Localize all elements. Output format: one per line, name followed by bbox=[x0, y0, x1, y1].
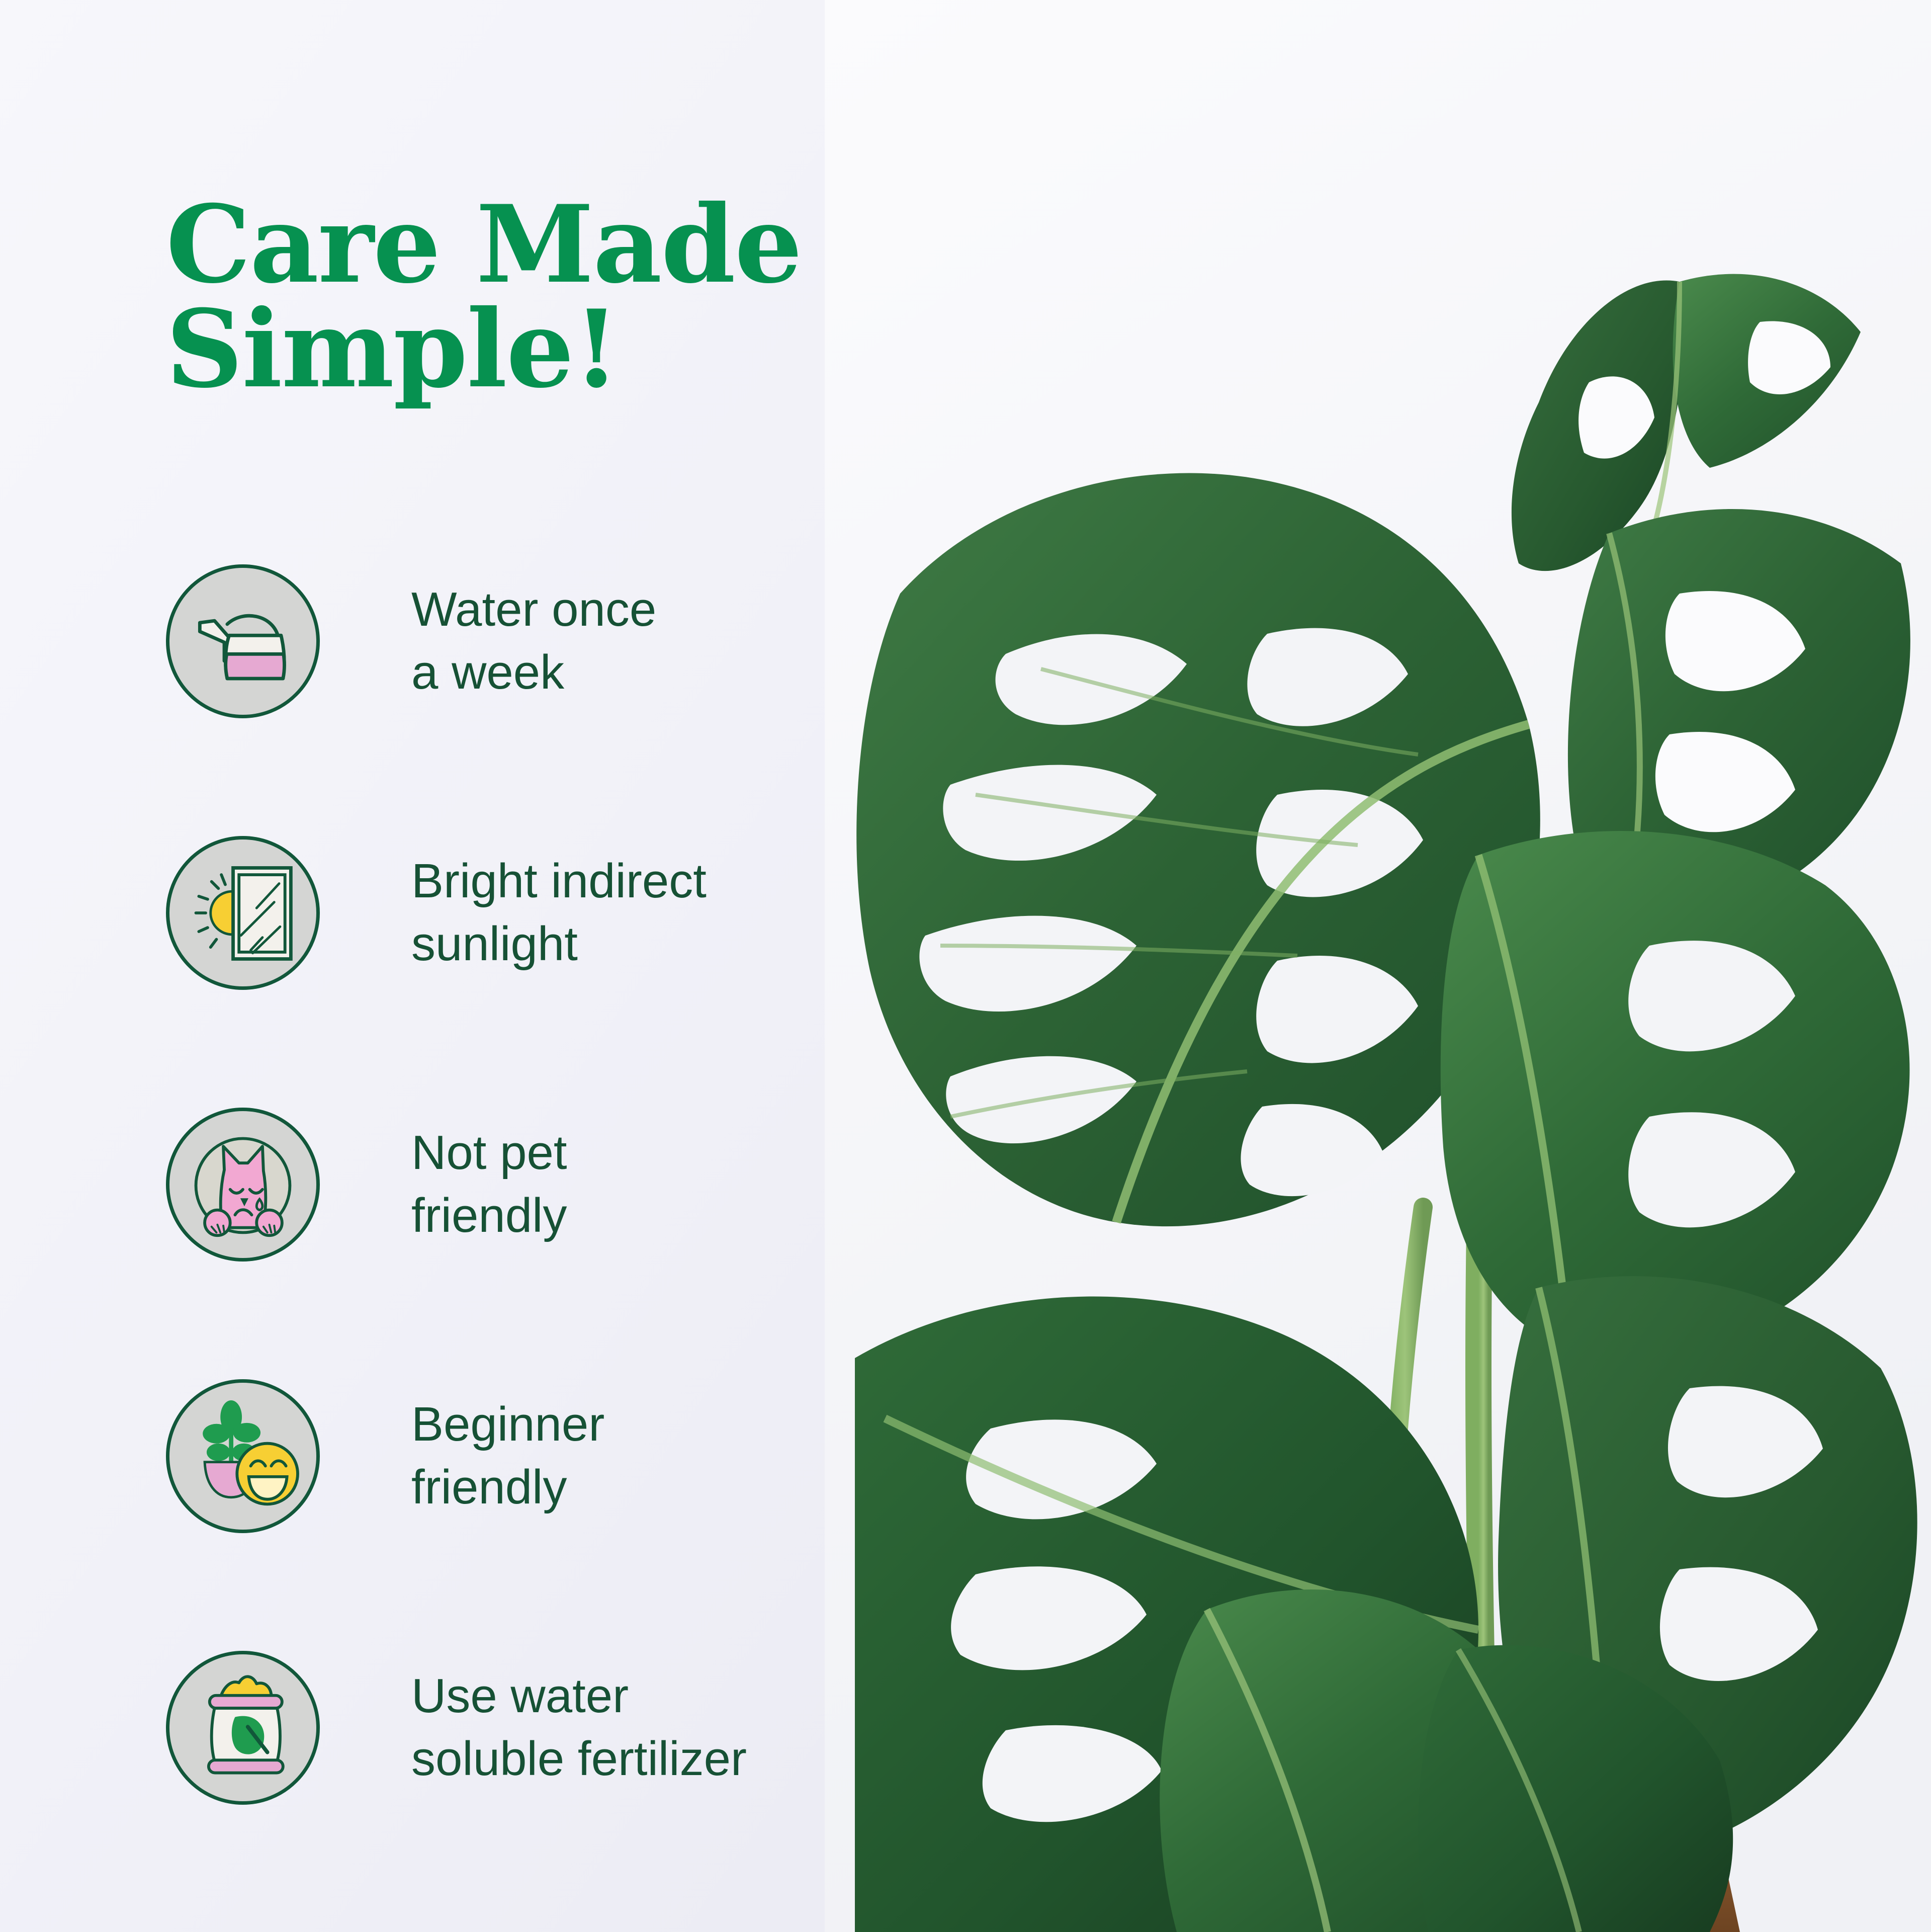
care-item-beginner: Beginner friendly bbox=[166, 1378, 880, 1534]
sad-cat-icon bbox=[166, 1108, 320, 1262]
page-title: Care Made Simple! bbox=[166, 192, 820, 401]
care-item-label: Beginner friendly bbox=[411, 1393, 604, 1519]
fertilizer-sack-icon bbox=[166, 1651, 320, 1805]
care-item-light: Bright indirect sunlight bbox=[166, 835, 880, 991]
care-item-label: Water once a week bbox=[411, 578, 656, 704]
care-item-label: Use water soluble fertilizer bbox=[411, 1665, 747, 1791]
care-list: Water once a week bbox=[166, 563, 880, 1806]
care-info-card: Care Made Simple! Water once a week bbox=[0, 0, 1931, 1932]
sun-window-icon bbox=[166, 836, 320, 990]
care-item-fertilizer: Use water soluble fertilizer bbox=[166, 1650, 880, 1806]
potted-plant-smiley-icon bbox=[166, 1379, 320, 1533]
care-item-water: Water once a week bbox=[166, 563, 880, 719]
care-item-label: Bright indirect sunlight bbox=[411, 850, 707, 976]
care-item-pet: Not pet friendly bbox=[166, 1107, 880, 1263]
watering-can-icon bbox=[166, 564, 320, 718]
care-item-label: Not pet friendly bbox=[411, 1122, 567, 1247]
plant-photo bbox=[825, 0, 1931, 1932]
